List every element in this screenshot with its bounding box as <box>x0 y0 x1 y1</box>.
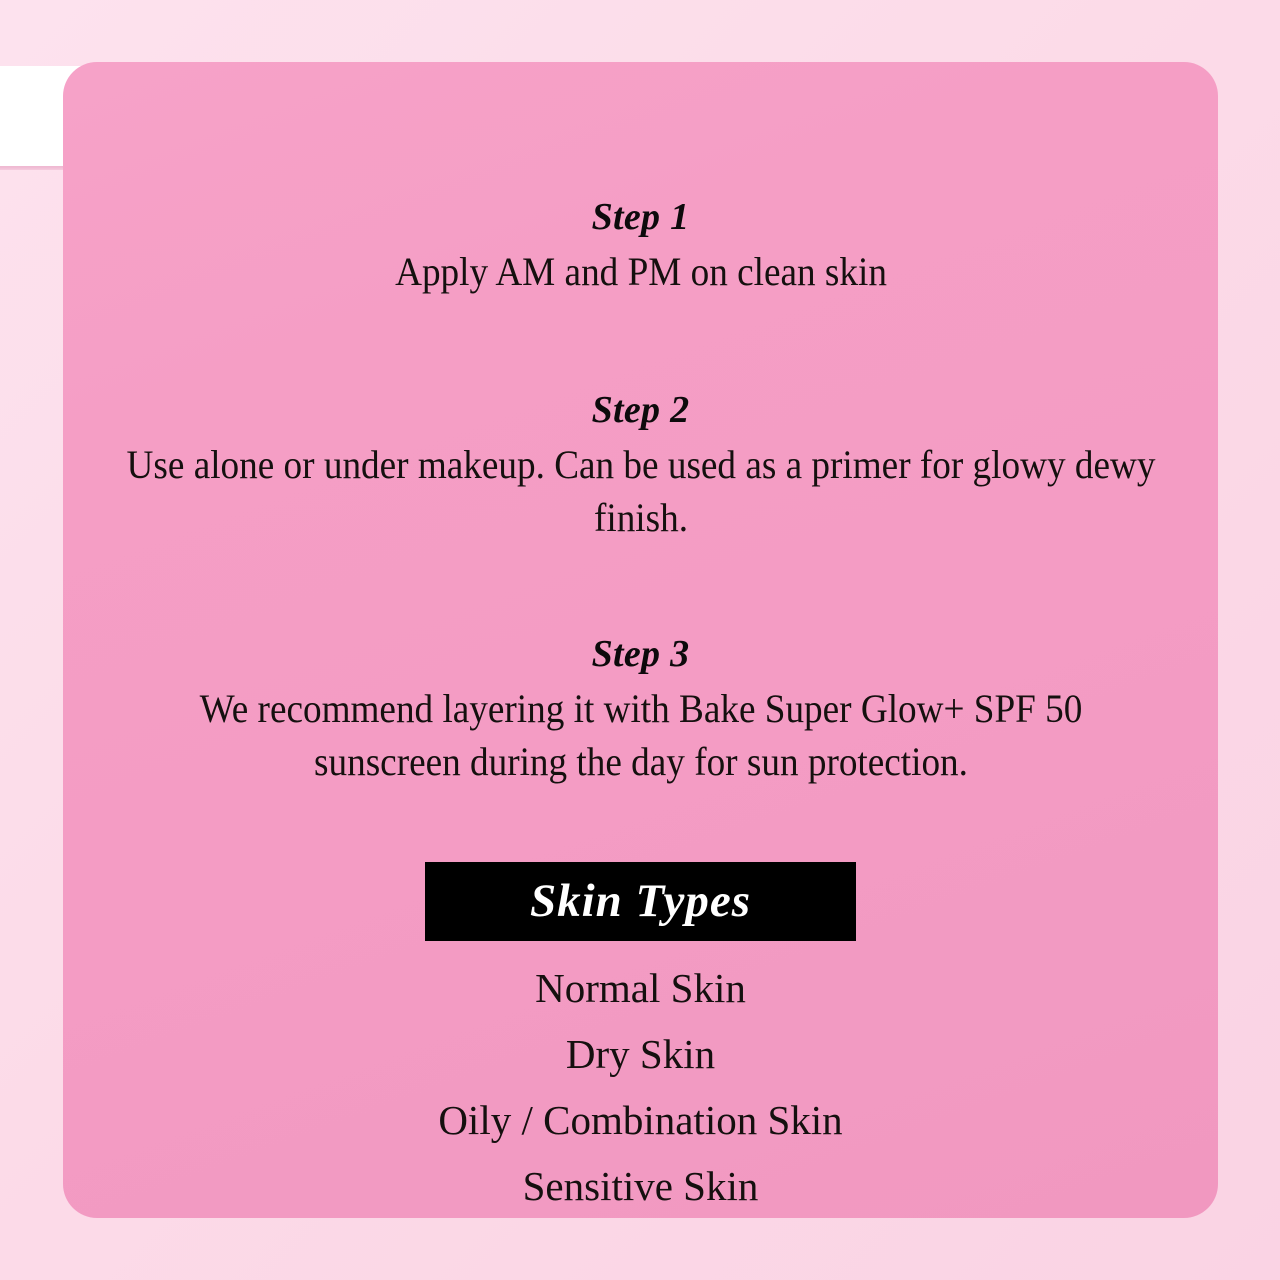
step-body-3: We recommend layering it with Bake Super… <box>124 682 1156 788</box>
skin-type-item: Oily / Combination Skin <box>63 1087 1218 1153</box>
steps-list: Step 1 Apply AM and PM on clean skin Ste… <box>63 195 1218 788</box>
step-heading-1: Step 1 <box>63 195 1218 239</box>
step-heading-3: Step 3 <box>63 632 1218 676</box>
skin-type-item: Sensitive Skin <box>63 1153 1218 1219</box>
step-body-1: Apply AM and PM on clean skin <box>124 245 1156 298</box>
step-item-2: Step 2 Use alone or under makeup. Can be… <box>63 388 1218 544</box>
step-item-1: Step 1 Apply AM and PM on clean skin <box>63 195 1218 298</box>
skin-types-badge-label: Skin Types <box>530 875 751 927</box>
skin-types-section: Skin Types Normal Skin Dry Skin Oily / C… <box>63 862 1218 1219</box>
skin-types-badge: Skin Types <box>425 862 856 941</box>
step-item-3: Step 3 We recommend layering it with Bak… <box>63 632 1218 788</box>
how-to-use-infographic: How To Use Step 1 Apply AM and PM on cle… <box>0 0 1280 1280</box>
step-heading-2: Step 2 <box>63 388 1218 432</box>
skin-type-item: Normal Skin <box>63 955 1218 1021</box>
skin-types-list: Normal Skin Dry Skin Oily / Combination … <box>63 955 1218 1219</box>
step-body-2: Use alone or under makeup. Can be used a… <box>124 438 1156 544</box>
skin-type-item: Dry Skin <box>63 1021 1218 1087</box>
